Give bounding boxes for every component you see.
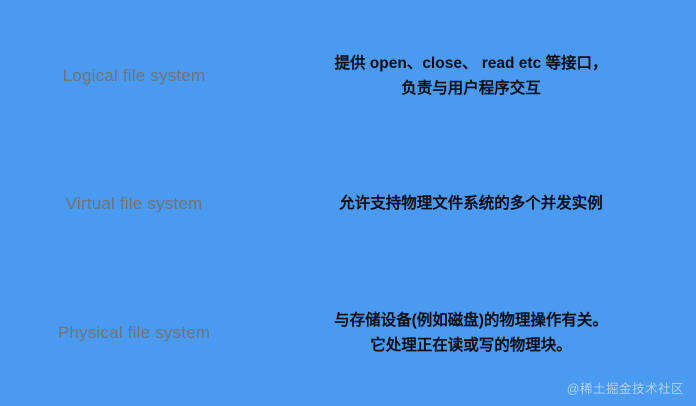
layer-description-virtual-file-system: 允许支持物理文件系统的多个并发实例 — [268, 194, 696, 214]
layer-description-line: 负责与用户程序交互 — [268, 76, 674, 101]
layer-label-virtual-file-system: Virtual file system — [0, 193, 268, 214]
layer-label-logical-file-system: Logical file system — [0, 65, 268, 86]
layer-description-line: 与存储设备(例如磁盘)的物理操作有关。 — [268, 308, 674, 333]
layer-row-virtual-file-system: Virtual file system 允许支持物理文件系统的多个并发实例 — [0, 190, 696, 218]
layer-row-physical-file-system: Physical file system 与存储设备(例如磁盘)的物理操作有关。… — [0, 305, 696, 361]
layer-description-logical-file-system: 提供 open、close、 read etc 等接口， 负责与用户程序交互 — [268, 51, 696, 101]
layer-description-physical-file-system: 与存储设备(例如磁盘)的物理操作有关。 它处理正在读或写的物理块。 — [268, 308, 696, 358]
layer-label-physical-file-system: Physical file system — [0, 322, 268, 343]
layer-description-line: 提供 open、close、 read etc 等接口， — [268, 51, 674, 76]
file-system-layers-slide: Logical file system 提供 open、close、 read … — [0, 0, 696, 406]
watermark: @稀土掘金技术社区 — [567, 378, 684, 397]
layer-row-logical-file-system: Logical file system 提供 open、close、 read … — [0, 48, 696, 104]
layer-description-line: 它处理正在读或写的物理块。 — [268, 333, 674, 358]
layer-description-line: 允许支持物理文件系统的多个并发实例 — [268, 194, 674, 214]
